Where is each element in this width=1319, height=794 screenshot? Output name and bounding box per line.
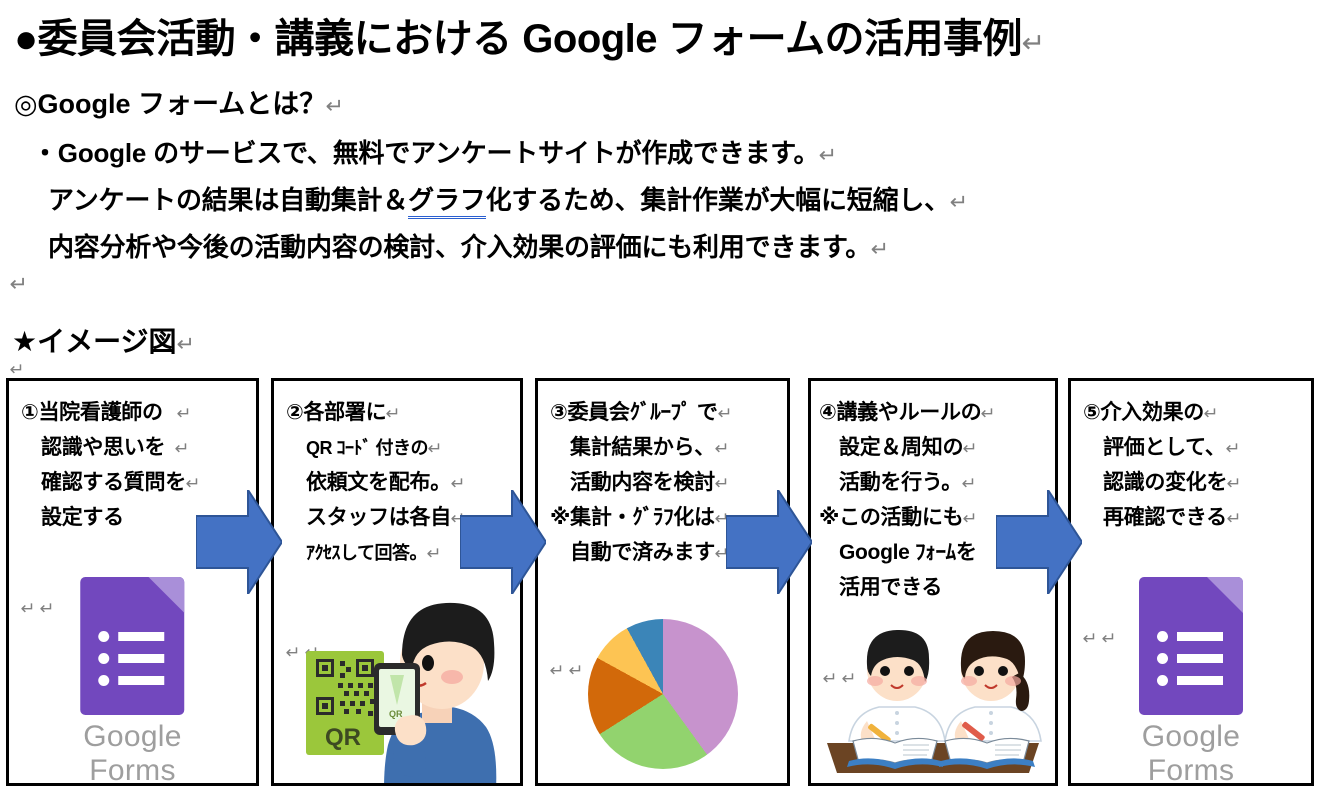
- pilcrow-mark: ↵: [326, 94, 344, 118]
- students-svg: [819, 629, 1047, 781]
- qr-label: QR: [325, 724, 361, 751]
- svg-text:QR: QR: [389, 709, 403, 719]
- google-forms-logo: Google Forms: [1131, 577, 1251, 786]
- step5-trailing-pilcrows: ↵ ↵: [1083, 603, 1116, 649]
- flow-arrow-4: [996, 490, 1082, 594]
- page-title-text: ●委員会活動・講義における Google フォームの活用事例: [14, 17, 1022, 61]
- step4-line6: 活用できる: [839, 576, 942, 599]
- step2-line5: ｱｸｾｽして回答。: [306, 543, 427, 563]
- pilcrow-mark: ↵: [1204, 397, 1219, 432]
- google-forms-icon: [81, 577, 185, 715]
- step1-line4: 設定する: [41, 506, 124, 529]
- step5-line4: 再確認できる: [1103, 506, 1227, 529]
- image-section-heading-text: ★イメージ図: [12, 326, 177, 357]
- image-section-heading: ★イメージ図↵: [12, 320, 194, 360]
- section-heading-text: ◎Google フォームとは？: [14, 89, 326, 119]
- grammar-marked-text: グラフ: [408, 185, 485, 219]
- step1-line3: 確認する質問を: [41, 471, 186, 494]
- step4-line2: 設定＆周知の: [839, 436, 963, 459]
- flow-step-5-box: ⑤介入効果の↵ 評価として、↵ 認識の変化を↵ 再確認できる↵ ↵ ↵: [1068, 378, 1314, 786]
- google-forms-wordmark: Google Forms: [71, 720, 195, 786]
- pilcrow-mark: ↵: [950, 190, 968, 214]
- person-eye: [422, 655, 434, 671]
- pie-chart-graphic: [588, 619, 738, 769]
- flow-arrow-2: [460, 490, 546, 594]
- body-line-1-text: ・Google のサービスで、無料でアンケートサイトが作成できます。: [32, 138, 819, 168]
- pilcrow-mark: ↵: [10, 360, 25, 380]
- step3-line4: ※集計・ｸﾞﾗﾌ化は: [550, 506, 715, 529]
- pilcrow-mark: ↵: [717, 397, 732, 432]
- pilcrow-mark: ↵: [1225, 432, 1240, 467]
- body-line-1: ・Google のサービスで、無料でアンケートサイトが作成できます。↵: [32, 133, 837, 170]
- step5-line3: 認識の変化を: [1103, 471, 1227, 494]
- body-line-2-post: 化するため、集計作業が大幅に短縮し、: [486, 185, 950, 215]
- step1-trailing-pilcrows: ↵ ↵: [21, 573, 54, 619]
- pilcrow-mark: ↵: [871, 237, 889, 261]
- section-heading: ◎Google フォームとは？↵: [14, 82, 344, 121]
- pilcrow-mark: ↵: [550, 661, 565, 681]
- step5-line2: 評価として、: [1103, 436, 1226, 459]
- pilcrow-mark: ↵: [10, 272, 28, 296]
- step4-line5: Google ﾌｫｰﾑを: [839, 541, 977, 564]
- pilcrow-mark: ↵: [963, 502, 978, 537]
- pilcrow-mark: ↵: [39, 599, 54, 619]
- student-boy: [849, 630, 945, 744]
- open-book-left: [847, 738, 943, 769]
- qr-scan-svg: QR: [282, 593, 512, 786]
- pilcrow-mark: ↵: [819, 143, 837, 167]
- pilcrow-mark: ↵: [175, 432, 190, 467]
- google-forms-icon: [1139, 577, 1243, 715]
- flow-diagram: ①当院看護師の↵ 認識や思いを↵ 確認する質問を↵ 設定する ↵ ↵: [0, 378, 1319, 790]
- pilcrow-mark: ↵: [981, 397, 996, 432]
- pilcrow-mark: ↵: [1083, 629, 1098, 649]
- pilcrow-mark: ↵: [1226, 502, 1241, 537]
- step3-line1: ③委員会ｸﾞﾙｰﾌﾟ で: [550, 401, 718, 424]
- step5-line1: ⑤介入効果の: [1083, 401, 1204, 424]
- blank-paragraph: ↵: [10, 272, 28, 296]
- step1-line1: ①当院看護師の: [21, 401, 163, 424]
- pie-chart: [588, 619, 738, 769]
- flow-arrow-1: [196, 490, 282, 594]
- person-hand: [395, 715, 426, 745]
- pilcrow-mark: ↵: [715, 432, 730, 467]
- pilcrow-mark: ↵: [176, 397, 191, 432]
- step4-line3: 活動を行う。: [839, 471, 962, 494]
- body-line-2: アンケートの結果は自動集計＆グラフ化するため、集計作業が大幅に短縮し、↵: [48, 180, 967, 217]
- step4-line1: ④講義やルールの: [819, 401, 981, 424]
- pilcrow-mark: ↵: [386, 397, 401, 432]
- step2-line3: 依頼文を配布。: [306, 471, 451, 494]
- body-line-2-pre: アンケートの結果は自動集計＆: [48, 185, 408, 215]
- open-book-right: [939, 738, 1035, 769]
- pilcrow-mark: ↵: [176, 332, 194, 356]
- pilcrow-mark: ↵: [1101, 629, 1116, 649]
- body-line-3-text: 内容分析や今後の活動内容の検討、介入効果の評価にも利用できます。: [48, 232, 871, 262]
- pilcrow-mark: ↵: [21, 599, 36, 619]
- step2-line2: QR ｺｰﾄﾞ 付きの: [306, 438, 428, 458]
- page-title: ●委員会活動・講義における Google フォームの活用事例↵: [14, 6, 1044, 64]
- pilcrow-mark: ↵: [962, 467, 977, 502]
- pilcrow-mark: ↵: [428, 432, 443, 467]
- flow-step-5-text: ⑤介入効果の↵ 評価として、↵ 認識の変化を↵ 再確認できる↵: [1071, 381, 1311, 535]
- google-forms-wordmark: Google Forms: [1131, 720, 1251, 786]
- google-forms-logo: Google Forms: [71, 577, 195, 786]
- step2-line1: ②各部署に: [286, 401, 386, 424]
- body-line-3: 内容分析や今後の活動内容の検討、介入効果の評価にも利用できます。↵: [48, 227, 888, 264]
- step1-line2: 認識や思いを: [41, 436, 165, 459]
- pilcrow-mark: ↵: [427, 537, 442, 572]
- step4-line4: ※この活動にも: [819, 506, 963, 529]
- pilcrow-mark: ↵: [1227, 467, 1242, 502]
- student-girl: [945, 631, 1041, 743]
- pilcrow-mark: ↵: [1021, 28, 1044, 59]
- pilcrow-mark: ↵: [963, 432, 978, 467]
- step2-line4: スタッフは各自: [306, 506, 451, 529]
- pilcrow-mark: ↵: [568, 661, 583, 681]
- document-page: ●委員会活動・講義における Google フォームの活用事例↵ ◎Google …: [0, 0, 1319, 794]
- step3-line5: 自動で済みます: [570, 541, 715, 564]
- flow-arrow-3: [726, 490, 812, 594]
- step3-line3: 活動内容を検討: [570, 471, 715, 494]
- blank-paragraph-2: ↵: [10, 360, 24, 380]
- step3-trailing-pilcrows: ↵ ↵: [550, 627, 583, 681]
- students-illustration: [819, 629, 1047, 781]
- step3-line2: 集計結果から、: [570, 436, 715, 459]
- qr-scan-illustration: QR: [282, 593, 512, 786]
